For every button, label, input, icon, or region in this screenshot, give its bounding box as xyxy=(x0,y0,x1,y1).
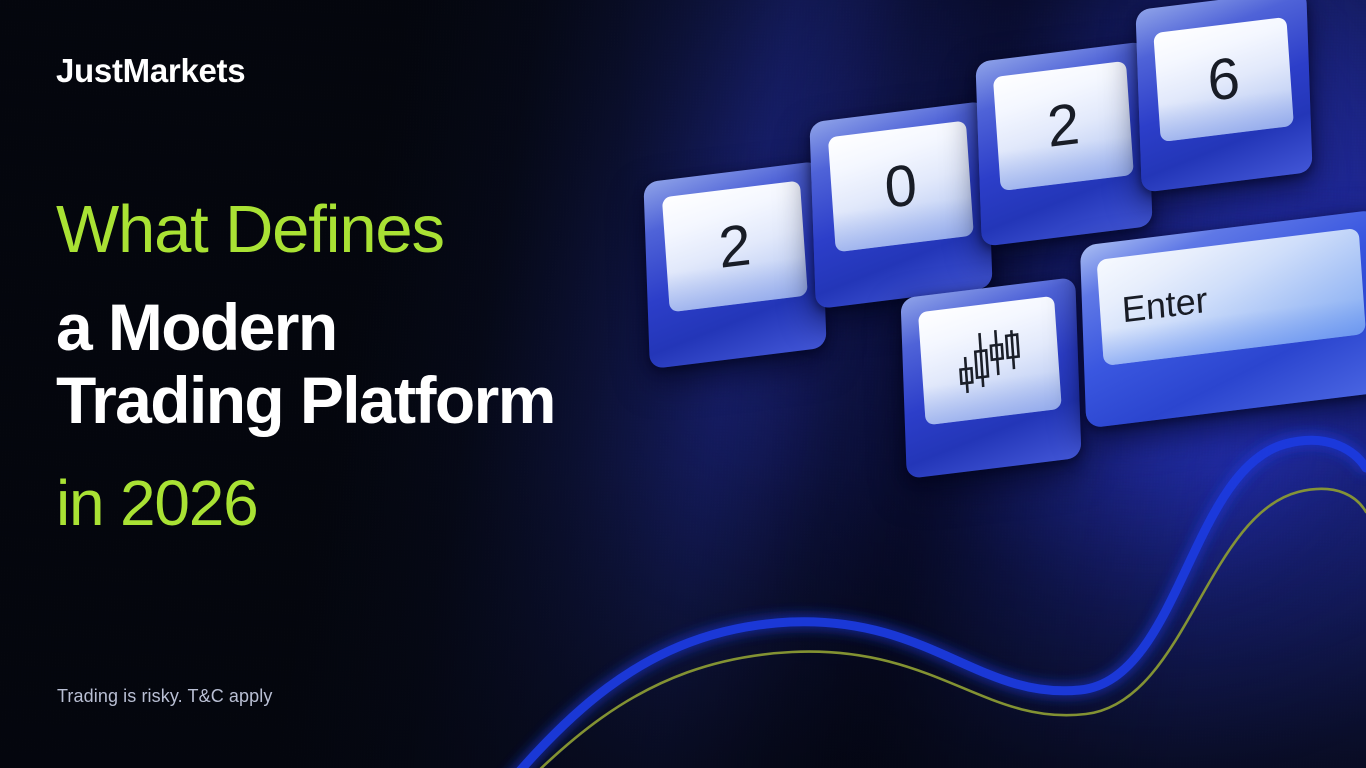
risk-disclaimer: Trading is risky. T&C apply xyxy=(57,686,272,707)
headline-line-1: What Defines xyxy=(56,196,836,263)
brand-logo: JustMarkets xyxy=(56,52,245,90)
poster-canvas: 2 0 2 6 xyxy=(0,0,1366,768)
headline-block: What Defines a Modern Trading Platform i… xyxy=(56,196,836,535)
headline-line-3: Trading Platform xyxy=(56,365,836,436)
headline-line-4: in 2026 xyxy=(56,471,836,535)
headline-line-2: a Modern xyxy=(56,292,836,363)
